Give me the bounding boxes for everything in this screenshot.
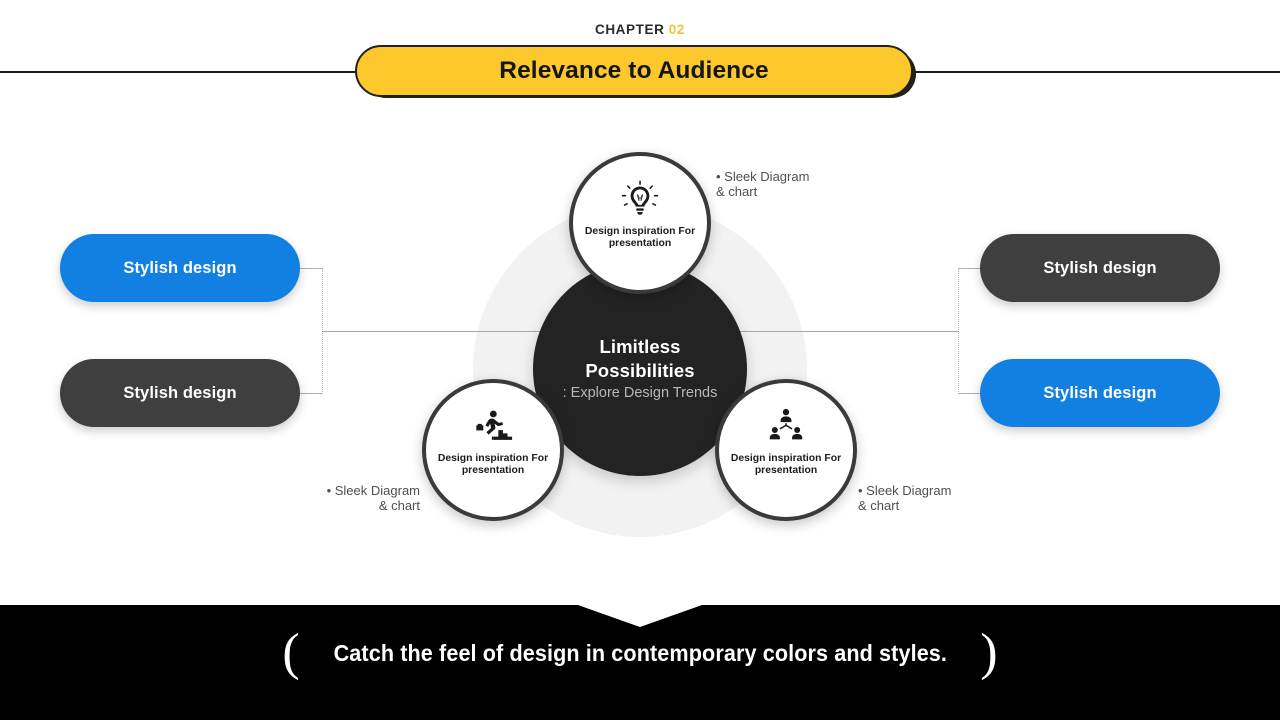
left-stub-top (300, 268, 323, 269)
left-stub-bottom (300, 393, 323, 394)
pill-left-top[interactable]: Stylish design (60, 234, 300, 302)
center-title-line1: Limitless (599, 335, 680, 358)
chapter-number: 02 (669, 22, 685, 37)
pill-left-bottom-label: Stylish design (123, 384, 236, 403)
callout-top: • Sleek Diagram & chart (716, 169, 876, 200)
node-bottom-left-label: Design inspiration For presentation (426, 453, 560, 478)
pill-left-bottom[interactable]: Stylish design (60, 359, 300, 427)
footer-tagline: Catch the feel of design in contemporary… (333, 640, 946, 667)
chapter-word: CHAPTER (595, 22, 664, 37)
center-subtitle: : Explore Design Trends (563, 385, 718, 403)
person-climbing-stairs-icon (473, 406, 513, 446)
open-brace-glyph: ( (282, 627, 299, 679)
right-stub-bottom (958, 393, 981, 394)
node-bottom-right-label: Design inspiration For presentation (719, 453, 853, 478)
lightbulb-icon (620, 179, 660, 219)
pill-right-top[interactable]: Stylish design (980, 234, 1220, 302)
team-org-chart-icon (766, 406, 806, 446)
pill-right-top-label: Stylish design (1043, 259, 1156, 278)
slide-canvas: CHAPTER 02 Relevance to Audience Limitle… (0, 0, 1280, 720)
slide-title-pill: Relevance to Audience (355, 45, 913, 97)
page-title: Relevance to Audience (499, 57, 768, 85)
center-title-line2: Possibilities (585, 359, 694, 382)
node-bottom-right[interactable]: Design inspiration For presentation (715, 379, 857, 521)
right-stub-top (958, 268, 981, 269)
close-brace-glyph: ) (980, 627, 997, 679)
callout-bottom-right: • Sleek Diagram & chart (858, 483, 1023, 514)
left-bracket-lead-line (322, 331, 542, 332)
pill-right-bottom-label: Stylish design (1043, 384, 1156, 403)
node-bottom-left[interactable]: Design inspiration For presentation (422, 379, 564, 521)
chapter-label: CHAPTER 02 (0, 22, 1280, 37)
footer-banner-content: ( Catch the feel of design in contempora… (0, 627, 1280, 679)
pill-left-top-label: Stylish design (123, 259, 236, 278)
node-top[interactable]: Design inspiration For presentation (569, 152, 711, 294)
right-bracket-lead-line (738, 331, 959, 332)
pill-right-bottom[interactable]: Stylish design (980, 359, 1220, 427)
callout-bottom-left: • Sleek Diagram & chart (255, 483, 420, 514)
node-top-label: Design inspiration For presentation (573, 226, 707, 251)
